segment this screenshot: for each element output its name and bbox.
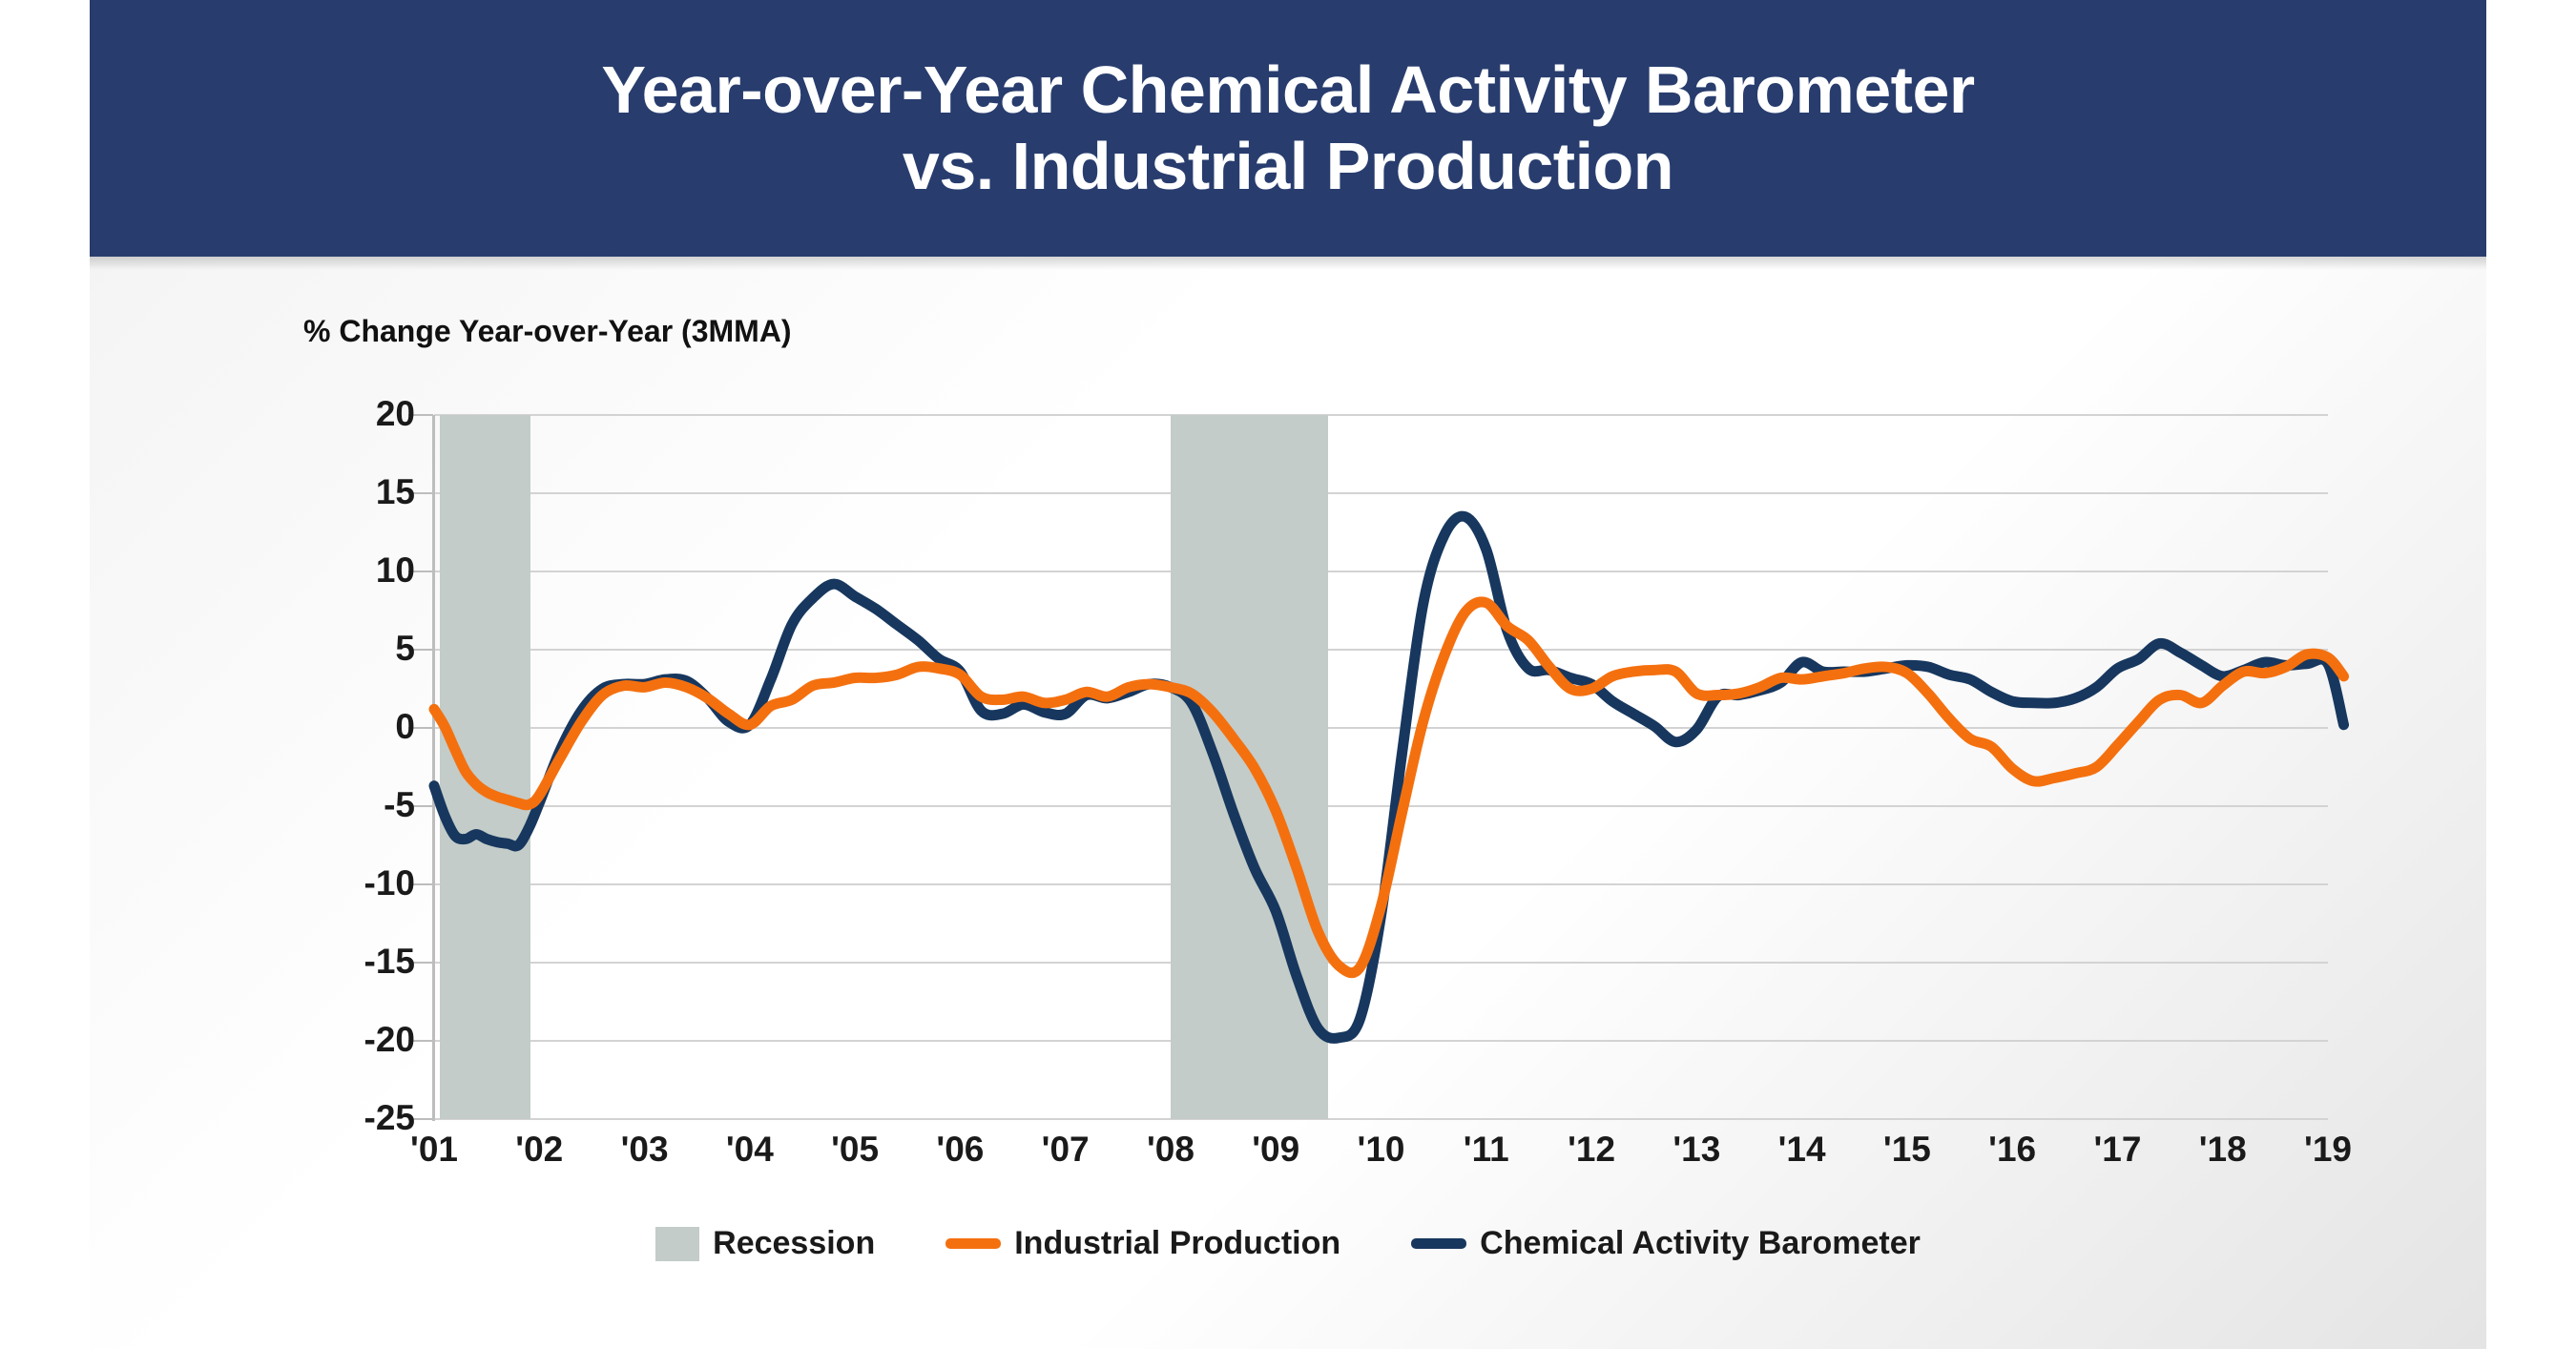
x-axis-tick-label: '05	[798, 1131, 912, 1167]
series-line	[434, 602, 2344, 973]
x-axis-tick-label: '01	[377, 1131, 491, 1167]
gridline	[434, 727, 2328, 729]
x-axis-tick-label: '09	[1218, 1131, 1333, 1167]
legend-swatch-line-icon	[1411, 1238, 1466, 1249]
y-axis-tick-label: -25	[234, 1100, 415, 1135]
x-axis-tick-label: '06	[903, 1131, 1017, 1167]
y-axis-tick-label: -20	[234, 1022, 415, 1057]
y-axis-tick-label: 5	[234, 631, 415, 666]
legend-item[interactable]: Chemical Activity Barometer	[1411, 1225, 1921, 1262]
recession-band	[440, 415, 531, 1119]
legend-swatch-recession-icon	[655, 1227, 699, 1261]
y-axis-tick-label: -15	[234, 944, 415, 979]
gridline	[434, 1118, 2328, 1120]
gridline	[434, 649, 2328, 651]
y-axis-line	[432, 415, 435, 1121]
x-axis-tick-label: '17	[2060, 1131, 2174, 1167]
x-axis-tick-label: '14	[1745, 1131, 1859, 1167]
x-axis-tick-label: '15	[1850, 1131, 1964, 1167]
x-axis-tick-label: '04	[693, 1131, 807, 1167]
gridline	[434, 1040, 2328, 1042]
gridline	[434, 962, 2328, 964]
x-axis-tick-label: '08	[1113, 1131, 1228, 1167]
chart-area: 20151050-5-10-15-20-25 '01'02'03'04'05'0…	[0, 0, 2576, 1349]
slide-root: Year-over-Year Chemical Activity Baromet…	[0, 0, 2576, 1349]
x-axis-tick-label: '16	[1955, 1131, 2069, 1167]
x-axis-tick-label: '19	[2271, 1131, 2385, 1167]
y-axis-tick-label: -10	[234, 865, 415, 901]
gridline	[434, 805, 2328, 807]
chart-legend: RecessionIndustrial ProductionChemical A…	[0, 1225, 2576, 1262]
legend-label: Industrial Production	[1014, 1225, 1340, 1262]
legend-label: Recession	[713, 1225, 875, 1262]
y-axis-tick-label: 0	[234, 709, 415, 744]
x-axis-tick-label: '10	[1324, 1131, 1439, 1167]
legend-item[interactable]: Industrial Production	[945, 1225, 1340, 1262]
y-axis-tick-label: 15	[234, 474, 415, 509]
legend-item[interactable]: Recession	[655, 1225, 875, 1262]
legend-label: Chemical Activity Barometer	[1480, 1225, 1921, 1262]
x-axis-tick-label: '07	[1008, 1131, 1123, 1167]
gridline	[434, 571, 2328, 572]
series-line	[434, 516, 2344, 1038]
x-axis-tick-label: '02	[482, 1131, 596, 1167]
x-axis-tick-label: '03	[588, 1131, 702, 1167]
y-axis-tick-label: 20	[234, 396, 415, 431]
x-axis-tick-label: '12	[1534, 1131, 1649, 1167]
x-axis-tick-label: '11	[1429, 1131, 1544, 1167]
y-axis-tick-label: 10	[234, 552, 415, 588]
gridline	[434, 883, 2328, 885]
gridline	[434, 414, 2328, 416]
legend-swatch-line-icon	[945, 1238, 1001, 1249]
x-axis-tick-label: '13	[1639, 1131, 1754, 1167]
y-axis-tick-label: -5	[234, 787, 415, 822]
gridline	[434, 492, 2328, 494]
recession-band	[1171, 415, 1328, 1119]
x-axis-tick-label: '18	[2166, 1131, 2280, 1167]
